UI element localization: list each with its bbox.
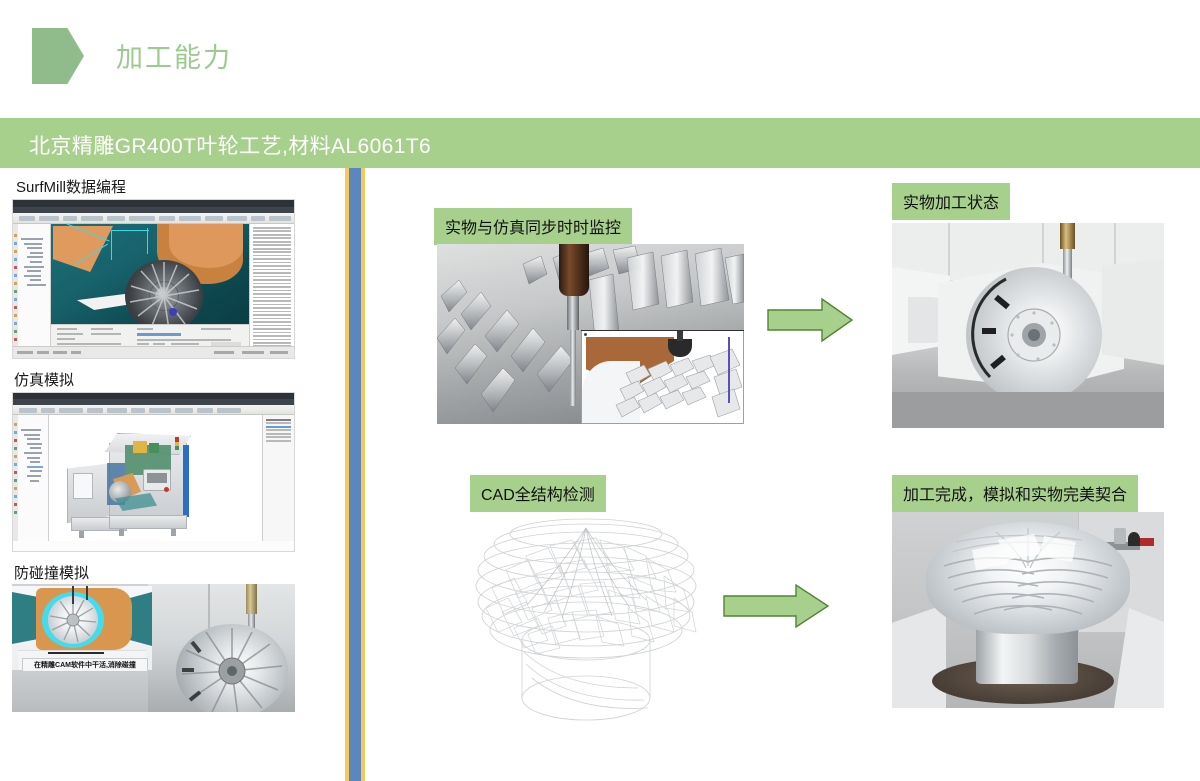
cam-parameter-panel	[51, 324, 249, 346]
finished-part-photo	[892, 512, 1164, 708]
cam-tool-strip	[13, 224, 18, 346]
collision-inner-caption: 在精雕CAM软件中干活,消除碰撞	[22, 658, 148, 672]
sim-model-tree	[13, 415, 49, 541]
slide-canvas: 加工能力 北京精雕GR400T叶轮工艺,材料AL6061T6 SurfMill数…	[0, 0, 1200, 781]
column-divider-inner	[349, 168, 361, 781]
pip-blade-grid-icon	[582, 331, 744, 424]
left-caption-2: 仿真模拟	[14, 369, 74, 390]
cad-wireframe-model	[462, 512, 724, 744]
page-title: 加工能力	[116, 36, 232, 75]
machining-state-photo	[892, 223, 1164, 428]
column-divider	[345, 168, 365, 781]
pip-simulation-overlay	[581, 330, 744, 424]
right-caption-1: 实物加工状态	[892, 183, 1010, 220]
surfmill-screenshot	[12, 199, 295, 359]
cam-tree-nodes	[21, 238, 47, 289]
chevron-icon	[32, 28, 84, 84]
cam-model-tree	[13, 224, 51, 346]
cam-ribbon	[13, 213, 294, 224]
realtime-monitoring-photo	[437, 244, 744, 424]
real-impeller-blades-icon	[176, 624, 288, 712]
title-band-text: 北京精雕GR400T叶轮工艺,材料AL6061T6	[29, 130, 431, 160]
sim-viewport	[49, 415, 262, 541]
machining-impeller-blades-icon	[966, 267, 1102, 403]
sim-tool-strip	[13, 415, 18, 541]
collision-simulation-photo: 在精雕CAM软件中干活,消除碰撞	[12, 584, 295, 712]
part-blades-icon	[926, 522, 1130, 634]
cam-titlebar	[13, 200, 294, 207]
cad-wireframe-icon	[462, 512, 724, 744]
center-caption-1: 实物与仿真同步时时监控	[434, 208, 632, 245]
left-caption-3: 防碰撞模拟	[14, 562, 89, 583]
right-spindle-icon	[1060, 223, 1075, 249]
tool-shank-icon	[567, 296, 579, 330]
arrow-bottom	[722, 582, 832, 632]
tool-tip-icon	[570, 330, 576, 406]
spindle-icon	[246, 584, 257, 614]
sim-tree-nodes	[21, 429, 45, 484]
tool-holder-icon	[559, 244, 589, 296]
arrow-top	[766, 296, 856, 346]
machine-simulation-screenshot	[12, 392, 295, 552]
impeller-blades-icon	[125, 260, 203, 332]
sim-ribbon	[13, 405, 294, 415]
right-caption-2: 加工完成，模拟和实物完美契合	[892, 475, 1138, 512]
left-caption-1: SurfMill数据编程	[16, 176, 126, 197]
center-caption-2: CAD全结构检测	[470, 475, 606, 512]
cam-code-panel	[249, 224, 294, 346]
sim-info-panel	[262, 415, 294, 541]
cam-status-bar	[13, 346, 294, 358]
cam-3d-viewport	[51, 224, 249, 324]
